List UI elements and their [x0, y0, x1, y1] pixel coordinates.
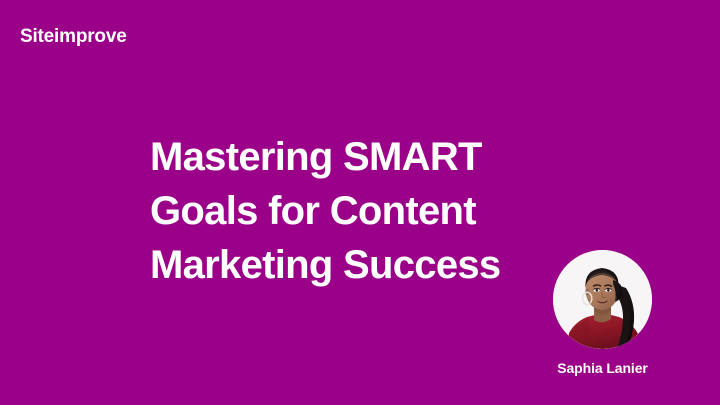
page-title: Mastering SMART Goals for Content Market…: [150, 130, 580, 292]
speaker-name: Saphia Lanier: [557, 361, 648, 375]
portrait-photo-icon: [553, 250, 652, 349]
presentation-slide: Siteimprove Mastering SMART Goals for Co…: [0, 0, 720, 405]
avatar: [553, 250, 652, 349]
title-line-2: Goals for Content: [150, 184, 580, 238]
speaker-block: Saphia Lanier: [553, 250, 652, 349]
title-line-3: Marketing Success: [150, 238, 580, 292]
title-line-1: Mastering SMART: [150, 130, 580, 184]
siteimprove-logo: Siteimprove: [20, 27, 127, 46]
